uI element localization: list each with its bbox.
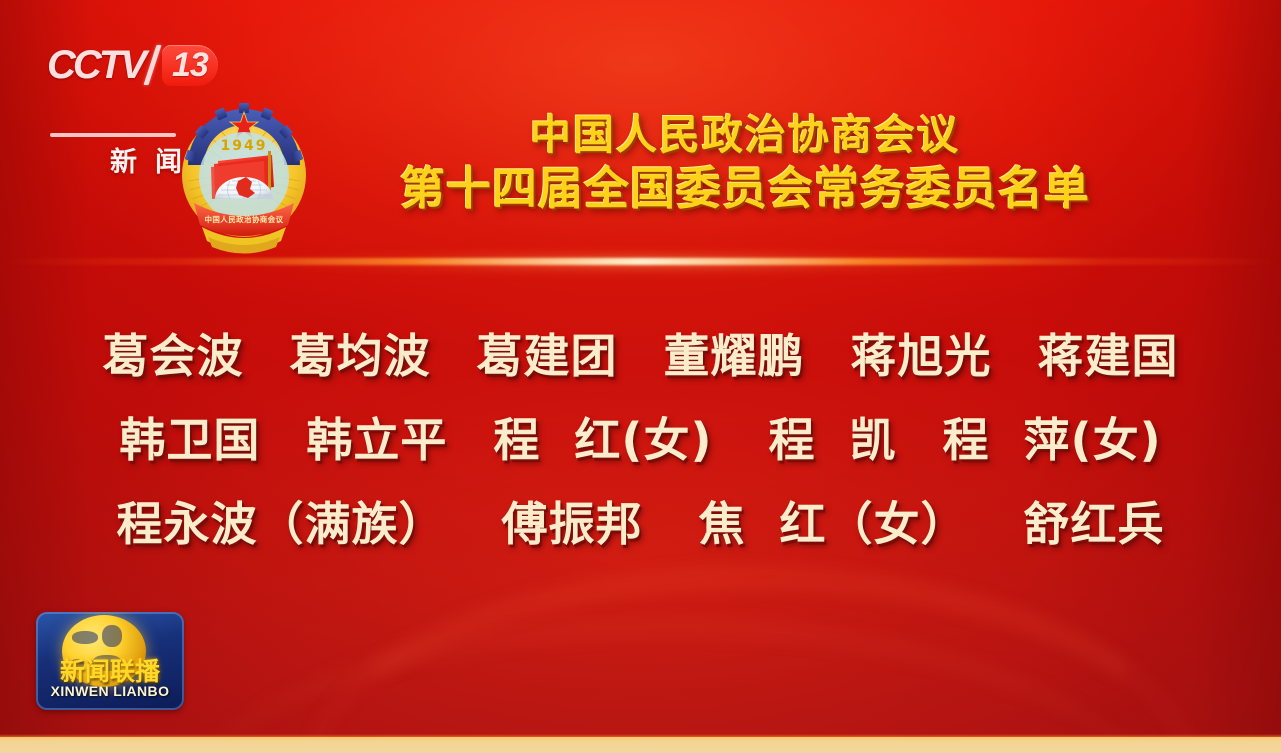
cctv-slash-divider [143,45,161,85]
name-entry: 程 萍(女) [943,404,1162,470]
broadcast-screen: CCTV 13 新闻 [0,0,1281,753]
program-name-en: XINWEN LIANBO [36,683,184,699]
headline-title: 中国人民政治协商会议 第十四届全国委员会常务委员名单 [330,112,1160,215]
name-entry: 葛建团 [477,320,618,386]
name-list: 葛会波葛均波葛建团董耀鹏蒋旭光蒋建国 韩卫国韩立平程 红(女)程 凯程 萍(女)… [0,320,1281,572]
xinwen-lianbo-bug: 新闻联播 XINWEN LIANBO [36,612,184,710]
cctv-wordmark: CCTV [47,44,144,86]
background-arc-glow [300,565,1200,753]
cctv-channel-number: 13 [172,46,208,85]
name-row: 葛会波葛均波葛建团董耀鹏蒋旭光蒋建国 [0,320,1281,404]
name-row: 韩卫国韩立平程 红(女)程 凯程 萍(女) [0,404,1281,488]
name-entry: 蒋建国 [1038,320,1179,386]
name-entry: 韩卫国 [119,404,260,470]
emblem-arc-text: 中国人民政治协商会议 [205,214,284,224]
name-entry: 葛会波 [103,320,244,386]
name-entry: 程永波（满族） [116,488,445,554]
section-divider [0,258,1281,265]
cctv-logo-underline [50,133,176,137]
title-line-1: 中国人民政治协商会议 [330,112,1160,160]
cctv13-logo-row: CCTV 13 [47,42,237,88]
name-entry: 程 红(女) [493,404,712,470]
name-entry: 葛均波 [290,320,431,386]
name-entry: 舒红兵 [1024,488,1165,554]
bottom-bar [0,737,1281,753]
name-entry: 董耀鹏 [664,320,805,386]
name-entry: 焦 红（女） [698,488,967,554]
name-entry: 蒋旭光 [851,320,992,386]
cppcc-emblem: 1949 中国人民政治协商会议 [168,95,320,261]
name-entry: 傅振邦 [501,488,642,554]
name-entry: 韩立平 [306,404,447,470]
cctv-channel-number-badge: 13 [162,45,218,86]
emblem-year: 1949 [221,138,268,154]
cppcc-emblem-icon: 1949 中国人民政治协商会议 [168,95,320,261]
name-entry: 程 凯 [768,404,896,470]
name-row: 程永波（满族）傅振邦焦 红（女）舒红兵 [0,488,1281,572]
title-line-2: 第十四届全国委员会常务委员名单 [330,163,1160,215]
